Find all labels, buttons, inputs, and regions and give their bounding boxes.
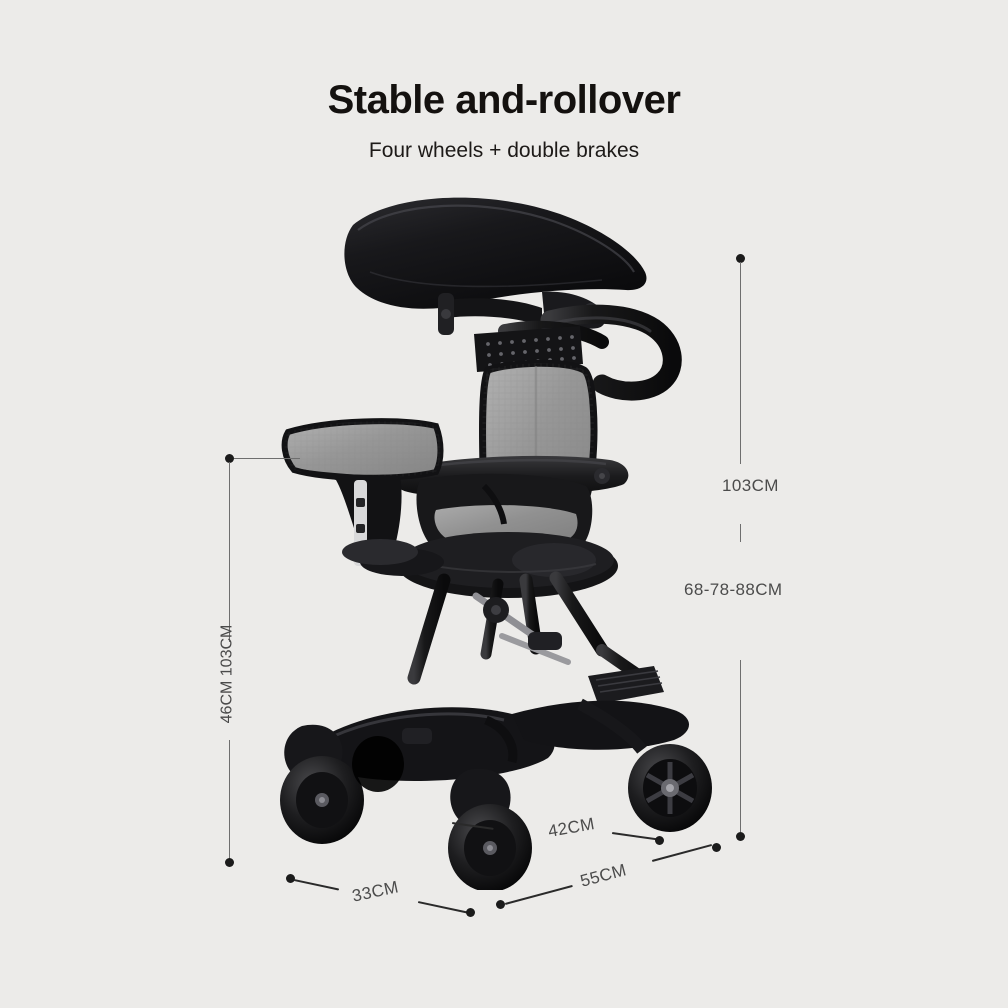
dim-55-left-dot — [496, 900, 505, 909]
stroller-illustration — [250, 180, 720, 890]
wheel-rear-left — [352, 736, 404, 792]
dim-label-handle-heights: 68-78-88CM — [684, 580, 783, 600]
dim-right-bottom-dot — [736, 832, 745, 841]
canopy — [344, 198, 646, 309]
dim-right-line-upper — [740, 262, 741, 464]
page-title: Stable and-rollover — [0, 78, 1008, 123]
dim-right-tick-mid — [740, 524, 741, 542]
dim-33-right-segment — [418, 901, 469, 913]
dim-left-bottom-dot — [225, 858, 234, 867]
page-subtitle: Four wheels + double brakes — [0, 139, 1008, 163]
dim-42-right-dot — [655, 836, 664, 845]
product-dimension-infographic: Stable and-rollover Four wheels + double… — [0, 0, 1008, 1008]
footrest — [588, 666, 664, 704]
wheel-rear-right — [628, 744, 712, 832]
dim-55-right-dot — [712, 843, 721, 852]
dim-left-line-lower — [229, 740, 230, 860]
dim-label-seat-heights: 46CM 103CM — [218, 625, 236, 724]
swivel-plate — [342, 532, 618, 598]
seat-side-panel-left — [285, 421, 441, 478]
wheel-front-right — [448, 769, 532, 890]
dim-right-line-lower — [740, 660, 741, 832]
dim-label-total-height: 103CM — [722, 476, 779, 496]
dim-left-line-upper — [229, 462, 230, 642]
dim-left-leader-top — [234, 458, 300, 459]
dim-33-right-dot — [466, 908, 475, 917]
